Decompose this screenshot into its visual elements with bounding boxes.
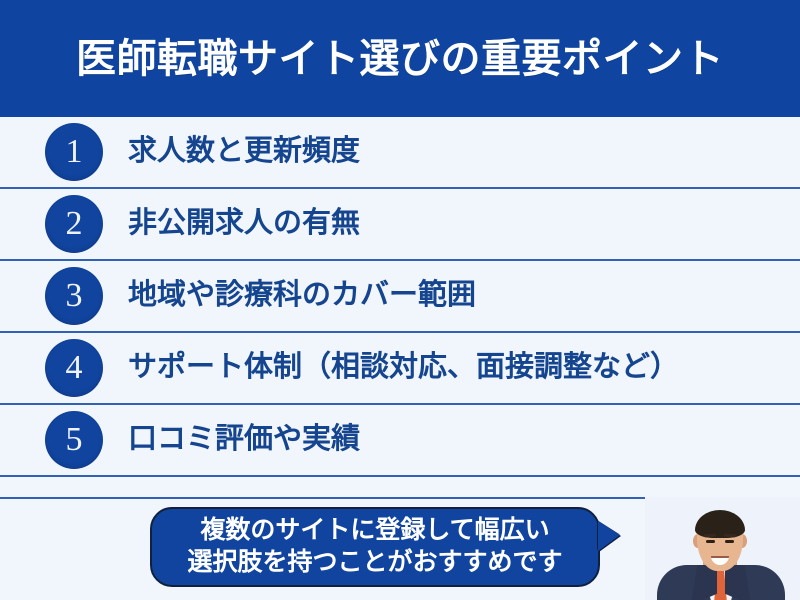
- point-number-badge: 4: [45, 339, 103, 397]
- speech-bubble-line-1: 複数のサイトに登録して幅広い: [200, 515, 549, 547]
- points-list: 1 求人数と更新頻度 2 非公開求人の有無 3 地域や診療科のカバー範囲 4 サ…: [0, 117, 800, 477]
- point-label: 非公開求人の有無: [128, 208, 360, 240]
- point-number-badge: 5: [45, 411, 103, 469]
- speech-bubble: 複数のサイトに登録して幅広い 選択肢を持つことがおすすめです: [150, 507, 600, 587]
- speech-bubble-tail: [598, 521, 620, 551]
- point-label: サポート体制（相談対応、面接調整など）: [128, 352, 679, 384]
- infographic-root: 医師転職サイト選びの重要ポイント 1 求人数と更新頻度 2 非公開求人の有無 3…: [0, 0, 800, 600]
- list-item: 3 地域や診療科のカバー範囲: [0, 261, 800, 333]
- person-eye-right: [725, 540, 734, 543]
- page-title: 医師転職サイト選びの重要ポイント: [76, 39, 724, 79]
- list-item: 2 非公開求人の有無: [0, 189, 800, 261]
- point-label: 口コミ評価や実績: [128, 424, 360, 456]
- header-banner: 医師転職サイト選びの重要ポイント: [0, 0, 800, 117]
- point-number-badge: 3: [45, 267, 103, 325]
- person-illustration: [645, 497, 800, 600]
- person-eye-left: [706, 540, 715, 543]
- list-item: 4 サポート体制（相談対応、面接調整など）: [0, 333, 800, 405]
- speech-bubble-line-2: 選択肢を持つことがおすすめです: [187, 547, 562, 579]
- footer-section: 複数のサイトに登録して幅広い 選択肢を持つことがおすすめです: [0, 497, 800, 600]
- list-item: 5 口コミ評価や実績: [0, 405, 800, 477]
- advisor-photo: [645, 497, 800, 600]
- point-number-badge: 2: [45, 195, 103, 253]
- point-label: 求人数と更新頻度: [128, 136, 360, 168]
- point-label: 地域や診療科のカバー範囲: [128, 280, 476, 312]
- list-item: 1 求人数と更新頻度: [0, 117, 800, 189]
- point-number-badge: 1: [45, 123, 103, 181]
